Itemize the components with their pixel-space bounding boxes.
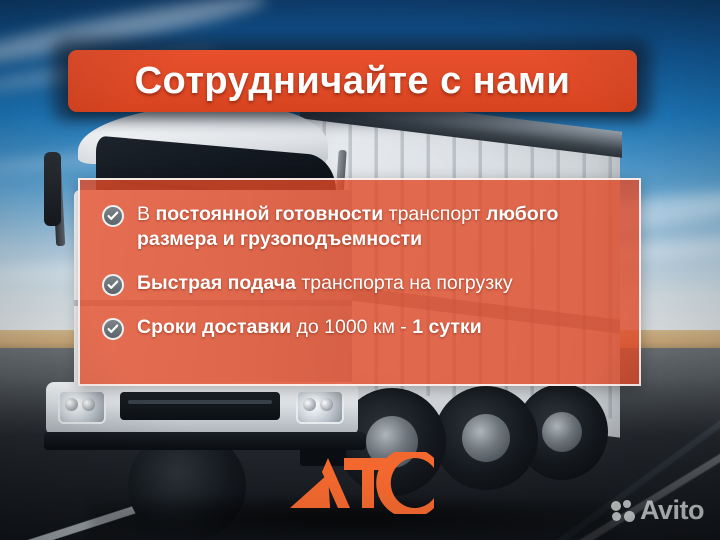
atc-logo bbox=[288, 452, 438, 514]
feature-item: Сроки доставки до 1000 км - 1 сутки bbox=[102, 315, 617, 340]
feature-item: В постоянной готовности транспорт любого… bbox=[102, 202, 617, 252]
truck-wheel bbox=[434, 386, 538, 490]
header-banner: Сотрудничайте с нами bbox=[68, 50, 637, 112]
truck-headlight-left bbox=[58, 390, 106, 424]
check-circle-icon bbox=[102, 318, 124, 340]
truck-headlight-right bbox=[296, 390, 344, 424]
check-circle-icon bbox=[102, 274, 124, 296]
truck-mirror-left bbox=[44, 152, 61, 226]
feature-text: Быстрая подача транспорта на погрузку bbox=[137, 271, 513, 296]
banner-title: Сотрудничайте с нами bbox=[135, 60, 571, 103]
feature-text: В постоянной готовности транспорт любого… bbox=[137, 202, 617, 252]
avito-watermark: Avito bbox=[611, 495, 704, 526]
feature-text: Сроки доставки до 1000 км - 1 сутки bbox=[137, 315, 482, 340]
features-panel: В постоянной готовности транспорт любого… bbox=[78, 178, 641, 386]
truck-grille-bar bbox=[128, 400, 272, 404]
check-circle-icon bbox=[102, 205, 124, 227]
advertisement-image: Сотрудничайте с нами В постоянной готовн… bbox=[0, 0, 720, 540]
truck-air-dam bbox=[44, 432, 366, 450]
avito-wordmark: Avito bbox=[640, 495, 704, 526]
feature-item: Быстрая подача транспорта на погрузку bbox=[102, 271, 617, 296]
avito-dots-icon bbox=[611, 500, 635, 522]
truck-grille bbox=[120, 392, 280, 420]
